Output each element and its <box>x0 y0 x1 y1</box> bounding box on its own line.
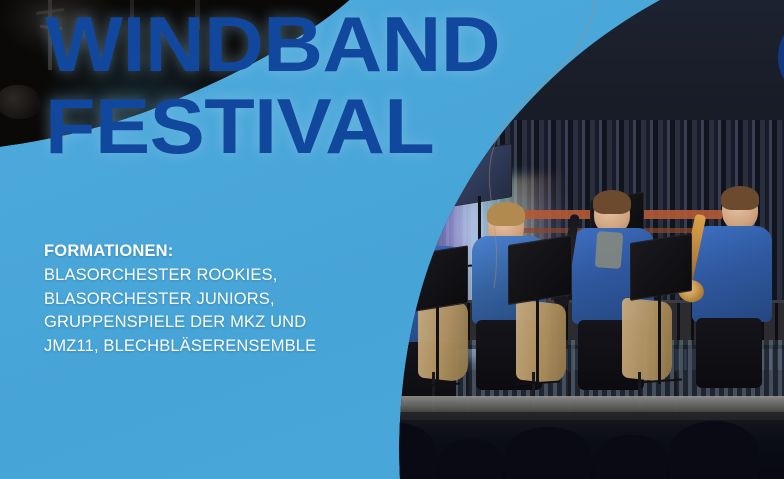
formations-block: FORMATIONEN: BLASORCHESTER ROOKIES, BLAS… <box>44 240 316 358</box>
title-line-windband: WINDBAND <box>45 8 500 81</box>
chair <box>418 297 468 382</box>
formation-line: BLASORCHESTER ROOKIES, <box>44 264 316 287</box>
chair <box>622 297 672 382</box>
chair <box>516 299 566 384</box>
formation-line: JMZ11, BLECHBLÄSERENSEMBLE <box>44 335 316 358</box>
poster-title: WINDBAND FESTIVAL <box>45 8 474 162</box>
title-line-festival: FESTIVAL <box>45 90 500 163</box>
formations-heading: FORMATIONEN: <box>44 240 316 262</box>
poster-canvas: WINDBAND FESTIVAL FORMATIONEN: BLASORCHE… <box>0 0 784 479</box>
formation-line: BLASORCHESTER JUNIORS, <box>44 288 316 311</box>
formation-line: GRUPPENSPIELE DER MKZ UND <box>44 311 316 334</box>
